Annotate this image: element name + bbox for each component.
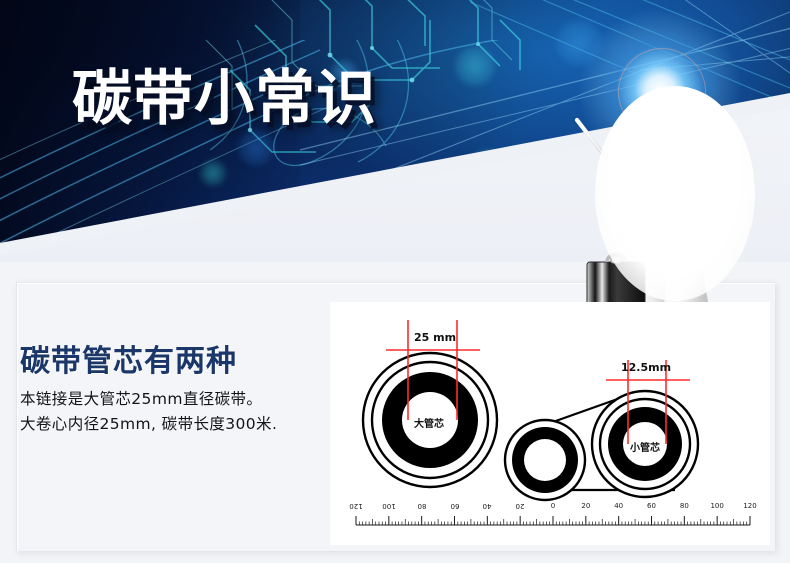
ruler-number: 120 (742, 502, 758, 510)
body-text-line-1: 本链接是大管芯25mm直径碳带。 (20, 387, 262, 409)
ruler-number: 60 (447, 502, 463, 510)
ruler-number: 20 (578, 502, 594, 510)
ruler-number: 0 (545, 502, 561, 510)
ruler-number: 40 (611, 502, 627, 510)
ribbon-core-diagram: 25 mm 12.5mm 大管芯 小管芯 1201008060402002040… (330, 302, 770, 545)
ruler-number: 80 (676, 502, 692, 510)
mascot-halo (595, 86, 755, 301)
small-core-label: 小管芯 (630, 439, 660, 454)
ruler-number: 80 (414, 502, 430, 510)
section-heading: 碳带管芯有两种 (20, 336, 237, 380)
product-detail-page: 碳带小常识 碳带管芯有两种 本链接是大管芯25mm直径碳带。 大卷心内径25mm… (0, 0, 790, 563)
small-core-dimension-label: 12.5mm (621, 361, 671, 374)
ruler-number: 100 (709, 502, 725, 510)
large-core-label: 大管芯 (414, 415, 444, 430)
body-text-line-2: 大卷心内径25mm, 碳带长度300米. (20, 412, 277, 434)
ruler-number: 120 (348, 502, 364, 510)
large-core-dimension-label: 25 mm (414, 331, 456, 344)
ruler-number: 100 (381, 502, 397, 510)
ruler-number: 60 (644, 502, 660, 510)
bokeh-dot (200, 160, 226, 186)
page-title: 碳带小常识 (72, 50, 377, 137)
feed-roll (505, 420, 585, 500)
mascot-figure (575, 58, 790, 343)
bokeh-dot (455, 46, 495, 86)
ruler-scale (356, 516, 750, 525)
ruler-number: 20 (512, 502, 528, 510)
ruler-number: 40 (479, 502, 495, 510)
